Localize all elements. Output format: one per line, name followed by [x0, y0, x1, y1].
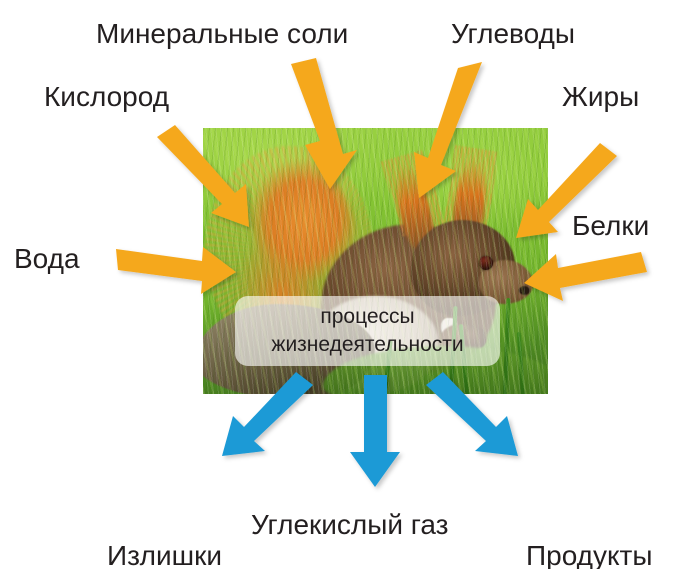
label-excess-water-line-1: Излишки: [107, 540, 222, 569]
label-carbon-dioxide: Углекислый газ: [251, 509, 449, 541]
label-proteins: Белки: [572, 210, 649, 242]
label-oxygen: Кислород: [44, 81, 169, 113]
center-caption-box: процессы жизнедеятельности: [235, 296, 500, 366]
caption-line-1: процессы: [320, 304, 414, 330]
label-water: Вода: [14, 243, 80, 275]
caption-line-2: жизнедеятельности: [271, 332, 463, 358]
label-excess-water: Излишки воды: [107, 476, 222, 569]
label-carbohydrates: Углеводы: [451, 18, 575, 50]
label-fats: Жиры: [562, 81, 639, 113]
label-mineral-salts: Минеральные соли: [96, 18, 348, 50]
diagram-canvas: процессы жизнедеятельности: [0, 0, 700, 569]
label-decay-products: Продукты распада: [526, 476, 653, 569]
label-decay-products-line-1: Продукты: [526, 540, 653, 569]
